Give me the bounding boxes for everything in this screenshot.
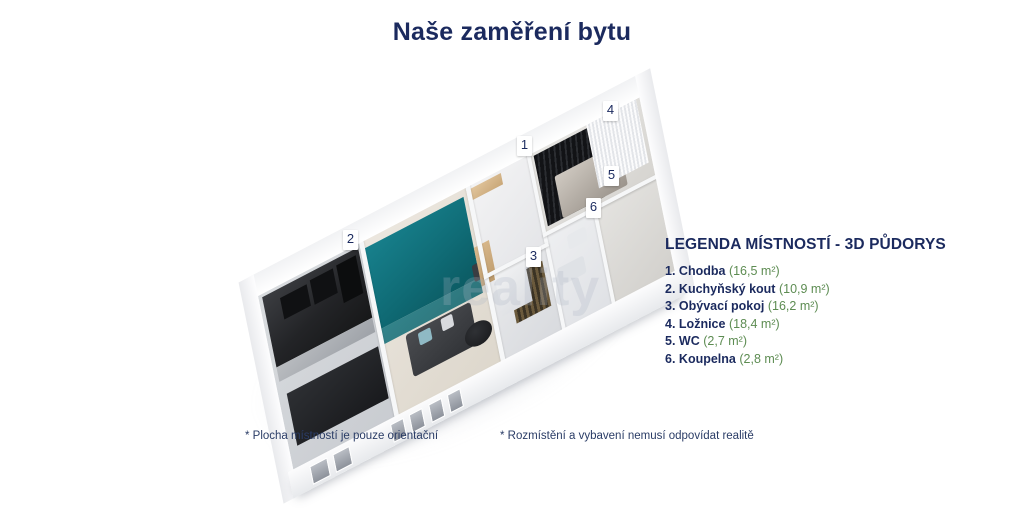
legend-index: 6.	[665, 352, 675, 366]
legend-index: 3.	[665, 299, 675, 313]
legend-item-obyvaci-pokoj: 3. Obývací pokoj (16,2 m²)	[665, 298, 965, 316]
legend-room-name: Koupelna	[679, 352, 736, 366]
room-marker-6: 6	[586, 198, 601, 218]
legend-title: LEGENDA MÍSTNOSTÍ - 3D PŮDORYS	[665, 236, 965, 254]
legend-room-name: WC	[679, 334, 700, 348]
watermark: reality	[440, 258, 600, 318]
legend-room-area: (2,7 m²)	[703, 334, 747, 348]
room-legend: LEGENDA MÍSTNOSTÍ - 3D PŮDORYS 1. Chodba…	[665, 236, 965, 368]
room-marker-4: 4	[603, 101, 618, 121]
legend-item-loznice: 4. Ložnice (18,4 m²)	[665, 316, 965, 334]
room-marker-5: 5	[604, 166, 619, 186]
room-marker-3: 3	[526, 247, 541, 267]
legend-room-area: (18,4 m²)	[729, 317, 780, 331]
legend-item-koupelna: 6. Koupelna (2,8 m²)	[665, 351, 965, 369]
legend-item-chodba: 1. Chodba (16,5 m²)	[665, 263, 965, 281]
legend-index: 2.	[665, 282, 675, 296]
legend-room-name: Kuchyňský kout	[679, 282, 776, 296]
footnote-area-disclaimer: * Plocha místností je pouze orientační	[245, 430, 438, 442]
legend-index: 5.	[665, 334, 675, 348]
legend-index: 4.	[665, 317, 675, 331]
legend-item-kuchynsky-kout: 2. Kuchyňský kout (10,9 m²)	[665, 281, 965, 299]
legend-room-area: (2,8 m²)	[739, 352, 783, 366]
legend-room-area: (10,9 m²)	[779, 282, 830, 296]
room-marker-1: 1	[517, 136, 532, 156]
floorplan-3d-render: 1 2 3 4 5 6	[232, 58, 692, 418]
legend-index: 1.	[665, 264, 675, 278]
legend-room-area: (16,2 m²)	[768, 299, 819, 313]
legend-room-name: Chodba	[679, 264, 726, 278]
room-marker-2: 2	[343, 230, 358, 250]
legend-room-name: Ložnice	[679, 317, 726, 331]
legend-item-wc: 5. WC (2,7 m²)	[665, 333, 965, 351]
footnote-furnishing-disclaimer: * Rozmístění a vybavení nemusí odpovídat…	[500, 430, 754, 442]
page-title: Naše zaměření bytu	[0, 18, 1024, 47]
legend-room-area: (16,5 m²)	[729, 264, 780, 278]
legend-room-name: Obývací pokoj	[679, 299, 764, 313]
